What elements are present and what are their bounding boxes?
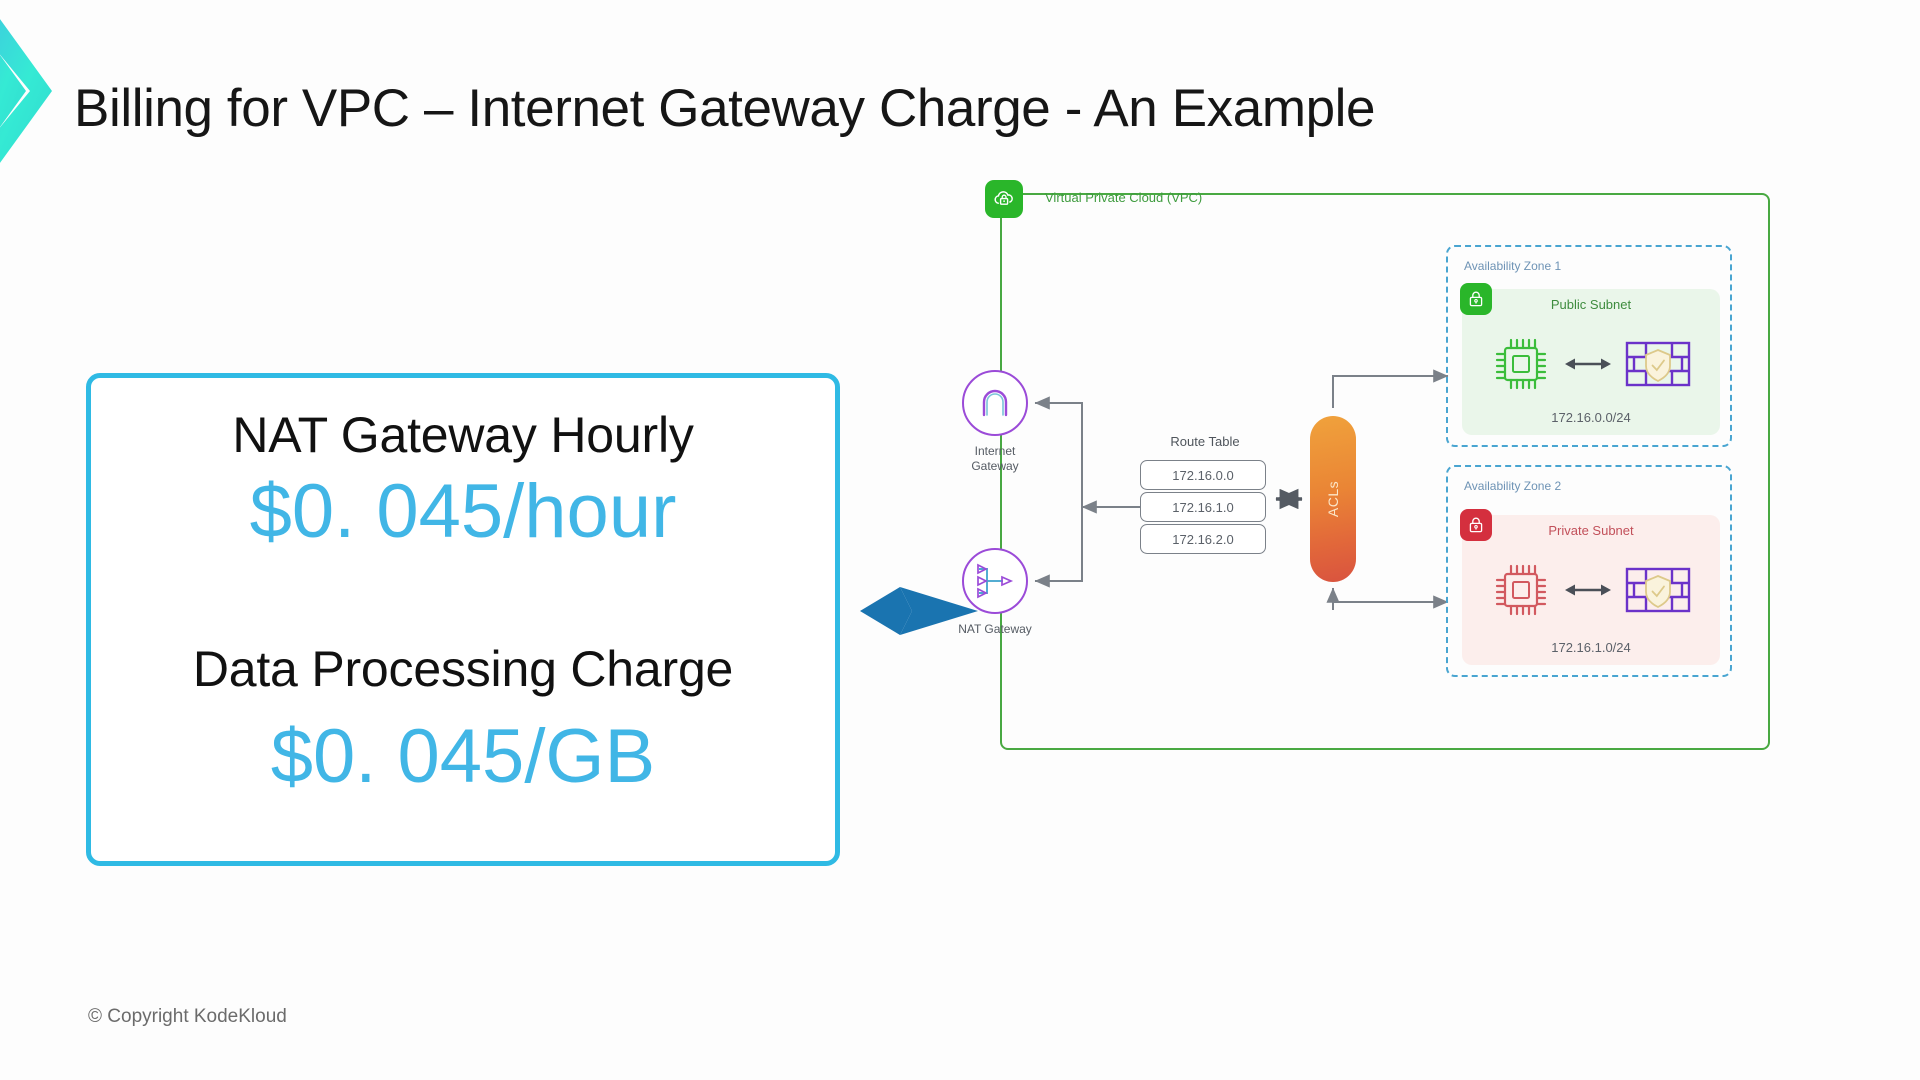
slide-canvas: Billing for VPC – Internet Gateway Charg… <box>0 0 1920 1080</box>
acls-label: ACLs <box>1325 481 1341 517</box>
nat-merge-arrows-icon <box>973 559 1017 603</box>
vpc-architecture-diagram: Virtual Private Cloud (VPC) <box>940 180 1770 750</box>
cpu-chip-icon <box>1490 333 1552 395</box>
copyright-text: © Copyright KodeKloud <box>88 1006 287 1028</box>
price-value-data-processing: $0. 045/GB <box>91 713 835 800</box>
private-subnet-nodes <box>1462 553 1720 627</box>
public-subnet-nodes <box>1462 327 1720 401</box>
price-label-nat-hourly: NAT Gateway Hourly <box>91 406 835 464</box>
public-subnet-box: Public Subnet <box>1462 289 1720 435</box>
gateway-arch-icon <box>975 383 1015 423</box>
cpu-chip-icon <box>1490 559 1552 621</box>
pricing-card: NAT Gateway Hourly $0. 045/hour Data Pro… <box>86 373 840 866</box>
nat-gateway-node[interactable] <box>962 548 1028 614</box>
availability-zone-1: Availability Zone 1 Public Subnet <box>1446 245 1732 447</box>
price-value-nat-hourly: $0. 045/hour <box>91 468 835 555</box>
cloud-lock-icon <box>985 180 1023 218</box>
firewall-shield-icon <box>1624 338 1692 390</box>
public-subnet-title: Public Subnet <box>1462 297 1720 312</box>
double-arrow-icon <box>1564 579 1612 601</box>
private-subnet-cidr: 172.16.1.0/24 <box>1462 640 1720 655</box>
price-label-data-processing: Data Processing Charge <box>91 640 835 698</box>
acls-node[interactable]: ACLs <box>1310 416 1356 582</box>
route-table-row[interactable]: 172.16.0.0 <box>1140 460 1266 490</box>
private-subnet-box: Private Subnet <box>1462 515 1720 665</box>
private-subnet-title: Private Subnet <box>1462 523 1720 538</box>
page-title: Billing for VPC – Internet Gateway Charg… <box>74 78 1375 139</box>
double-arrow-icon <box>1564 353 1612 375</box>
availability-zone-2: Availability Zone 2 Private Subnet <box>1446 465 1732 677</box>
nat-gateway-label: NAT Gateway <box>940 622 1050 637</box>
internet-gateway-node[interactable] <box>962 370 1028 436</box>
vpc-label: Virtual Private Cloud (VPC) <box>1045 190 1202 205</box>
public-subnet-cidr: 172.16.0.0/24 <box>1462 410 1720 425</box>
route-table-title: Route Table <box>1140 434 1270 449</box>
route-table-row[interactable]: 172.16.1.0 <box>1140 492 1266 522</box>
route-table-row[interactable]: 172.16.2.0 <box>1140 524 1266 554</box>
internet-gateway-label: Internet Gateway <box>940 444 1050 474</box>
availability-zone-label: Availability Zone 2 <box>1464 479 1561 493</box>
firewall-shield-icon <box>1624 564 1692 616</box>
availability-zone-label: Availability Zone 1 <box>1464 259 1561 273</box>
